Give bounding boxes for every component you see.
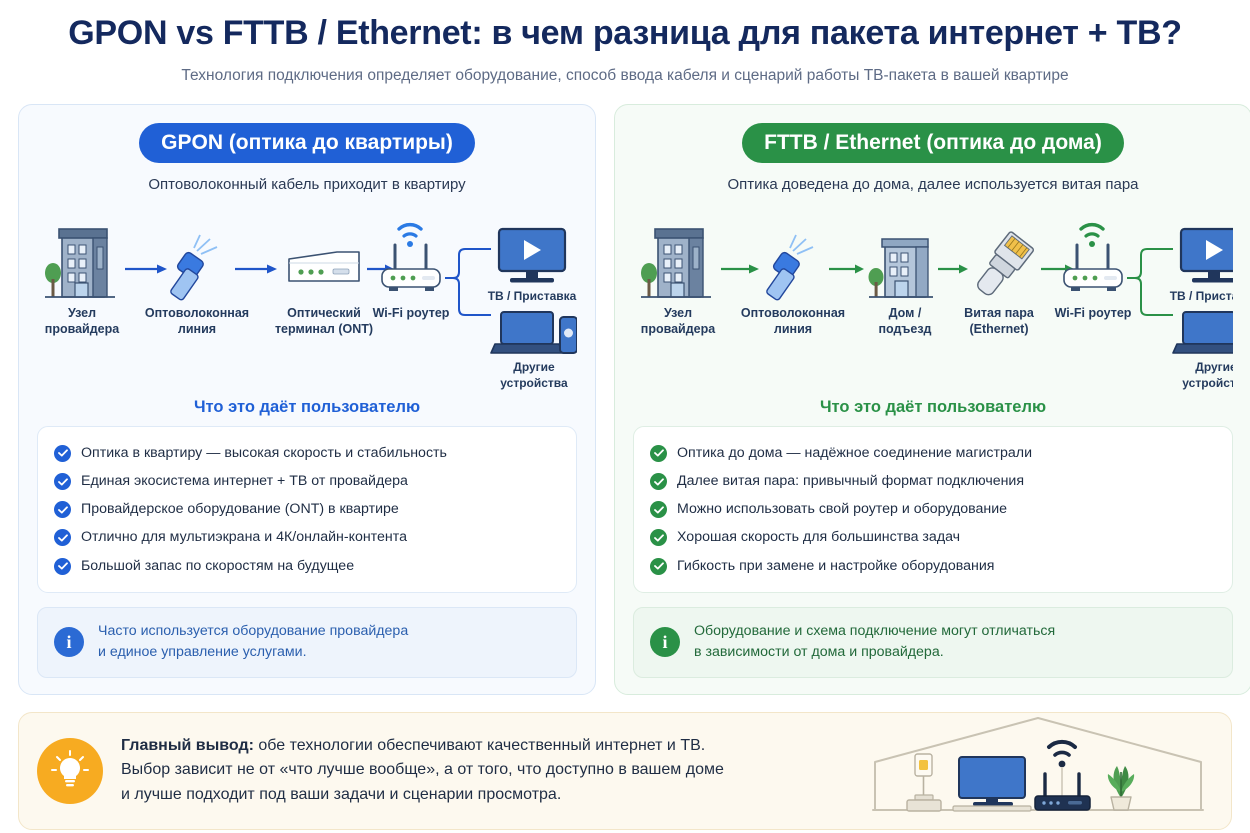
arrow-icon-2: [829, 265, 864, 274]
check-icon: [650, 558, 667, 575]
diagram-fttb-label-3a: Витая пара: [964, 306, 1035, 320]
diagram-fttb-label-0a: Узел: [664, 306, 692, 320]
check-icon: [650, 473, 667, 490]
diagram-fttb-label-2b: подъезд: [878, 322, 931, 336]
diagram-gpon-label-2a: Оптический: [287, 306, 361, 320]
wifi-router-icon: [382, 225, 440, 291]
house-building-icon: [869, 239, 934, 297]
rj45-connector-icon: [971, 231, 1035, 301]
conclusion-text: Главный вывод: обе технологии обеспечива…: [121, 734, 863, 808]
page-header: GPON vs FTTB / Ethernet: в чем разница д…: [0, 0, 1250, 86]
diagram-gpon-svg: Узел провайдера Оптоволоконная линия: [37, 207, 577, 392]
badge-gpon-strong: GPON: [161, 131, 223, 154]
diagram-gpon: Узел провайдера Оптоволоконная линия: [37, 207, 577, 392]
home-setup-svg: [863, 712, 1213, 824]
tv-icon: [953, 757, 1031, 811]
benefit-text: Оптика до дома — надёжное соединение маг…: [677, 444, 1032, 463]
diagram-gpon-label-3a: Wi-Fi роутер: [373, 306, 450, 320]
lamp-icon: [907, 754, 941, 811]
fiber-cable-icon: [766, 235, 813, 301]
badge-fttb-strong: FTTB / Ethernet: [764, 131, 920, 154]
tv-icon: [499, 229, 565, 283]
benefit-text: Хорошая скорость для большинства задач: [677, 528, 960, 547]
badge-gpon-light: (оптика до квартиры): [223, 131, 453, 154]
arrow-icon-1: [125, 265, 167, 274]
laptop-phone-icon: [491, 312, 577, 353]
benefit-item: Хорошая скорость для большинства задач: [650, 524, 1216, 552]
check-icon: [54, 529, 71, 546]
benefit-item: Гибкость при замене и настройке оборудов…: [650, 552, 1216, 580]
benefits-box-gpon: Оптика в квартиру — высокая скорость и с…: [37, 426, 577, 593]
check-icon: [650, 529, 667, 546]
wifi-router-icon: [1064, 225, 1122, 291]
diagram-gpon-endpoint-1a: Другие: [513, 360, 555, 374]
diagram-fttb-label-3b: (Ethernet): [969, 322, 1028, 336]
check-icon: [54, 445, 71, 462]
benefits-box-fttb: Оптика до дома — надёжное соединение маг…: [633, 426, 1233, 593]
arrow-icon-2: [235, 265, 277, 274]
info-icon: i: [54, 627, 84, 657]
page-title: GPON vs FTTB / Ethernet: в чем разница д…: [20, 14, 1230, 53]
conclusion-label: Главный вывод:: [121, 737, 254, 754]
wifi-router-icon: [1035, 742, 1090, 810]
arrow-icon-1: [721, 265, 759, 274]
tv-icon: [1181, 229, 1233, 283]
note-text-gpon: Часто используется оборудование провайде…: [98, 621, 408, 664]
note-gpon: i Часто используется оборудование провай…: [37, 607, 577, 678]
diagram-fttb-label-1b: линия: [774, 322, 812, 336]
conclusion-line-2: Выбор зависит не от «что лучше вообще», …: [121, 761, 724, 778]
note-line-1: Часто используется оборудование провайде…: [98, 623, 408, 639]
benefit-item: Единая экосистема интернет + ТВ от прова…: [54, 468, 560, 496]
diagram-gpon-label-0b: провайдера: [45, 322, 120, 336]
panel-gpon-subtitle: Оптоволоконный кабель приходит в квартир…: [37, 176, 577, 193]
diagram-gpon-endpoint-0: ТВ / Приставка: [488, 289, 577, 303]
provider-building-icon: [641, 229, 711, 297]
note-line-1: Оборудование и схема подключение могут о…: [694, 623, 1055, 639]
badge-fttb: FTTB / Ethernet (оптика до дома): [742, 123, 1124, 163]
benefit-item: Провайдерское оборудование (ONT) в кварт…: [54, 496, 560, 524]
branch-connector: [445, 249, 491, 315]
benefit-text: Далее витая пара: привычный формат подкл…: [677, 472, 1024, 491]
diagram-fttb-endpoint-1a: Другие: [1195, 360, 1233, 374]
benefit-item: Далее витая пара: привычный формат подкл…: [650, 468, 1216, 496]
check-icon: [650, 501, 667, 518]
note-line-2: в зависимости от дома и провайдера.: [694, 644, 944, 660]
note-fttb: i Оборудование и схема подключение могут…: [633, 607, 1233, 678]
diagram-gpon-label-1a: Оптоволоконная: [145, 306, 249, 320]
diagram-fttb-endpoint-1b: устройства: [1182, 376, 1233, 390]
conclusion-line-1: обе технологии обеспечивают качественный…: [254, 737, 705, 754]
badge-wrap-gpon: GPON (оптика до квартиры): [37, 123, 577, 163]
check-icon: [54, 558, 71, 575]
benefit-text: Можно использовать свой роутер и оборудо…: [677, 500, 1007, 519]
diagram-fttb-label-4a: Wi-Fi роутер: [1055, 306, 1132, 320]
conclusion-bar: Главный вывод: обе технологии обеспечива…: [18, 712, 1232, 830]
panel-fttb-subtitle: Оптика доведена до дома, далее используе…: [633, 176, 1233, 193]
diagram-gpon-endpoint-1b: устройства: [500, 376, 568, 390]
diagram-fttb-label-2a: Дом /: [889, 306, 922, 320]
check-icon: [54, 501, 71, 518]
diagram-gpon-label-1b: линия: [178, 322, 216, 336]
diagram-fttb-label-0b: провайдера: [641, 322, 716, 336]
benefit-text: Отлично для мультиэкрана и 4К/онлайн-кон…: [81, 528, 407, 547]
laptop-phone-icon: [1173, 312, 1233, 353]
diagram-fttb-endpoint-0: ТВ / Приставка: [1170, 289, 1233, 303]
diagram-gpon-label-0a: Узел: [68, 306, 96, 320]
benefit-item: Оптика до дома — надёжное соединение маг…: [650, 439, 1216, 467]
benefit-text: Провайдерское оборудование (ONT) в кварт…: [81, 500, 399, 519]
diagram-fttb-svg: Узел провайдера Оптоволоконная линия: [633, 207, 1233, 392]
comparison-panels: GPON (оптика до квартиры) Оптоволоконный…: [0, 86, 1250, 695]
conclusion-line-3: и лучше подходит под ваши задачи и сцена…: [121, 786, 561, 803]
plant-icon: [1108, 766, 1134, 810]
note-text-fttb: Оборудование и схема подключение могут о…: [694, 621, 1055, 664]
note-line-2: и единое управление услугами.: [98, 644, 307, 660]
arrow-icon-3: [938, 265, 968, 274]
diagram-fttb-label-1a: Оптоволоконная: [741, 306, 845, 320]
benefit-text: Большой запас по скоростям на будущее: [81, 557, 354, 576]
ont-terminal-icon: [289, 252, 359, 281]
benefit-item: Можно использовать свой роутер и оборудо…: [650, 496, 1216, 524]
benefit-text: Единая экосистема интернет + ТВ от прова…: [81, 472, 408, 491]
badge-wrap-fttb: FTTB / Ethernet (оптика до дома): [633, 123, 1233, 163]
check-icon: [54, 473, 71, 490]
lightbulb-glyph: [49, 750, 91, 792]
benefit-text: Оптика в квартиру — высокая скорость и с…: [81, 444, 447, 463]
home-setup-illustration: [863, 712, 1213, 829]
benefits-title-fttb: Что это даёт пользователю: [633, 398, 1233, 417]
benefit-item: Отлично для мультиэкрана и 4К/онлайн-кон…: [54, 524, 560, 552]
provider-building-icon: [45, 229, 115, 297]
page-subtitle: Технология подключения определяет оборуд…: [20, 66, 1230, 86]
info-icon: i: [650, 627, 680, 657]
badge-gpon: GPON (оптика до квартиры): [139, 123, 475, 163]
diagram-fttb: Узел провайдера Оптоволоконная линия: [633, 207, 1233, 392]
panel-fttb: FTTB / Ethernet (оптика до дома) Оптика …: [614, 104, 1250, 695]
benefit-item: Большой запас по скоростям на будущее: [54, 552, 560, 580]
lightbulb-icon: [37, 738, 103, 804]
panel-gpon: GPON (оптика до квартиры) Оптоволоконный…: [18, 104, 596, 695]
benefits-title-gpon: Что это даёт пользователю: [37, 398, 577, 417]
badge-fttb-light: (оптика до дома): [920, 131, 1101, 154]
benefit-text: Гибкость при замене и настройке оборудов…: [677, 557, 995, 576]
check-icon: [650, 445, 667, 462]
branch-connector: [1127, 249, 1173, 315]
diagram-gpon-label-2b: терминал (ONT): [275, 322, 373, 336]
fiber-cable-icon: [170, 235, 217, 301]
benefit-item: Оптика в квартиру — высокая скорость и с…: [54, 439, 560, 467]
